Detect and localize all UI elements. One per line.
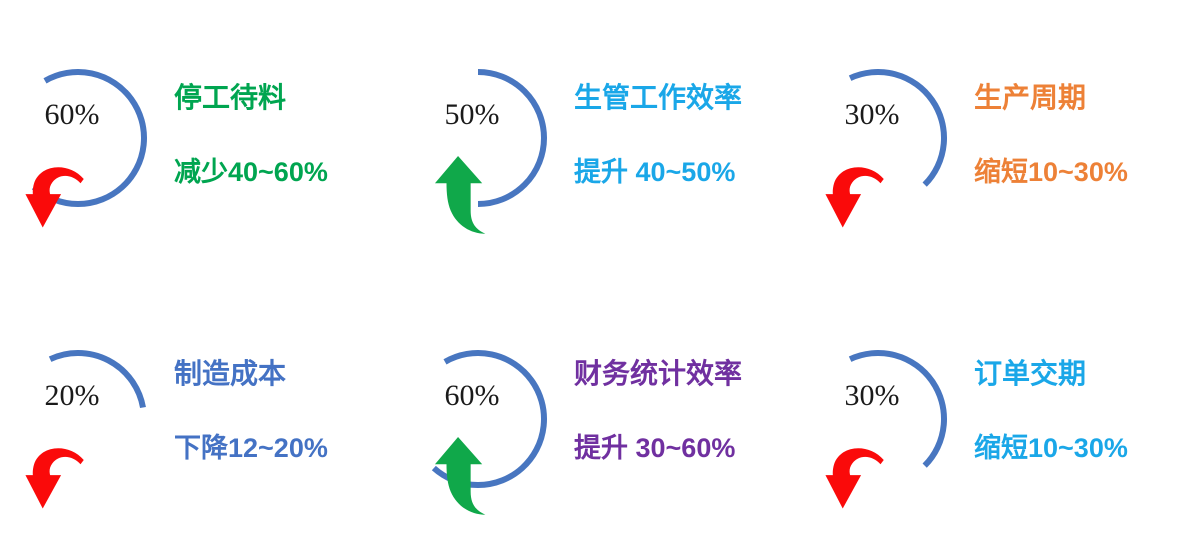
- kpi-subtitle-3: 下降12~20%: [174, 434, 328, 464]
- gauge-arc-4: [418, 319, 568, 519]
- kpi-text-block-1: 生管工作效率 提升 40~50%: [568, 83, 742, 193]
- percent-label-0: 60%: [24, 100, 120, 130]
- curved-down-arrow-icon: [25, 448, 83, 508]
- gauge-arc-1: [418, 38, 568, 238]
- kpi-title-1: 生管工作效率: [574, 83, 742, 114]
- kpi-card-finance-statistics-efficiency: 60% 财务统计效率 提升 30~60%: [400, 276, 800, 552]
- kpi-card-manufacturing-cost: 20% 制造成本 下降12~20%: [0, 276, 400, 552]
- curved-down-arrow-icon: [825, 448, 883, 508]
- kpi-title-2: 生产周期: [974, 83, 1128, 114]
- percent-label-4: 60%: [424, 381, 520, 411]
- kpi-subtitle-5: 缩短10~30%: [974, 434, 1128, 464]
- kpi-title-3: 制造成本: [174, 359, 328, 390]
- kpi-subtitle-1: 提升 40~50%: [574, 158, 742, 188]
- percent-label-3: 20%: [24, 381, 120, 411]
- kpi-card-order-lead-time: 30% 订单交期 缩短10~30%: [800, 276, 1183, 552]
- curved-down-arrow-icon: [825, 167, 883, 227]
- gauge-production-cycle: 30%: [818, 38, 968, 238]
- gauge-arc-5: [818, 319, 968, 519]
- kpi-grid: 60% 停工待料 减少40~60% 50% 生管工作效率 提升 40~50% 3…: [0, 0, 1183, 552]
- kpi-card-production-cycle: 30% 生产周期 缩短10~30%: [800, 0, 1183, 276]
- kpi-subtitle-0: 减少40~60%: [174, 158, 328, 188]
- gauge-stoppage-waiting-material: 60%: [18, 38, 168, 238]
- gauge-manufacturing-cost: 20%: [18, 319, 168, 519]
- curved-down-arrow-icon: [25, 167, 83, 227]
- gauge-arc-0: [18, 38, 168, 238]
- gauge-arc-3: [18, 319, 168, 519]
- percent-label-2: 30%: [824, 100, 920, 130]
- kpi-card-production-management-efficiency: 50% 生管工作效率 提升 40~50%: [400, 0, 800, 276]
- kpi-text-block-3: 制造成本 下降12~20%: [168, 359, 328, 469]
- kpi-text-block-5: 订单交期 缩短10~30%: [968, 359, 1128, 469]
- kpi-title-0: 停工待料: [174, 83, 328, 114]
- progress-arc: [478, 72, 544, 204]
- kpi-text-block-0: 停工待料 减少40~60%: [168, 83, 328, 193]
- kpi-text-block-4: 财务统计效率 提升 30~60%: [568, 359, 742, 469]
- kpi-title-4: 财务统计效率: [574, 359, 742, 390]
- kpi-subtitle-4: 提升 30~60%: [574, 434, 742, 464]
- kpi-text-block-2: 生产周期 缩短10~30%: [968, 83, 1128, 193]
- kpi-subtitle-2: 缩短10~30%: [974, 158, 1128, 188]
- kpi-card-stoppage-waiting-material: 60% 停工待料 减少40~60%: [0, 0, 400, 276]
- gauge-arc-2: [818, 38, 968, 238]
- gauge-order-lead-time: 30%: [818, 319, 968, 519]
- curved-up-arrow-icon: [435, 156, 485, 234]
- percent-label-5: 30%: [824, 381, 920, 411]
- kpi-infographic: 60% 停工待料 减少40~60% 50% 生管工作效率 提升 40~50% 3…: [0, 0, 1183, 552]
- gauge-production-management-efficiency: 50%: [418, 38, 568, 238]
- percent-label-1: 50%: [424, 100, 520, 130]
- kpi-title-5: 订单交期: [974, 359, 1128, 390]
- gauge-finance-statistics-efficiency: 60%: [418, 319, 568, 519]
